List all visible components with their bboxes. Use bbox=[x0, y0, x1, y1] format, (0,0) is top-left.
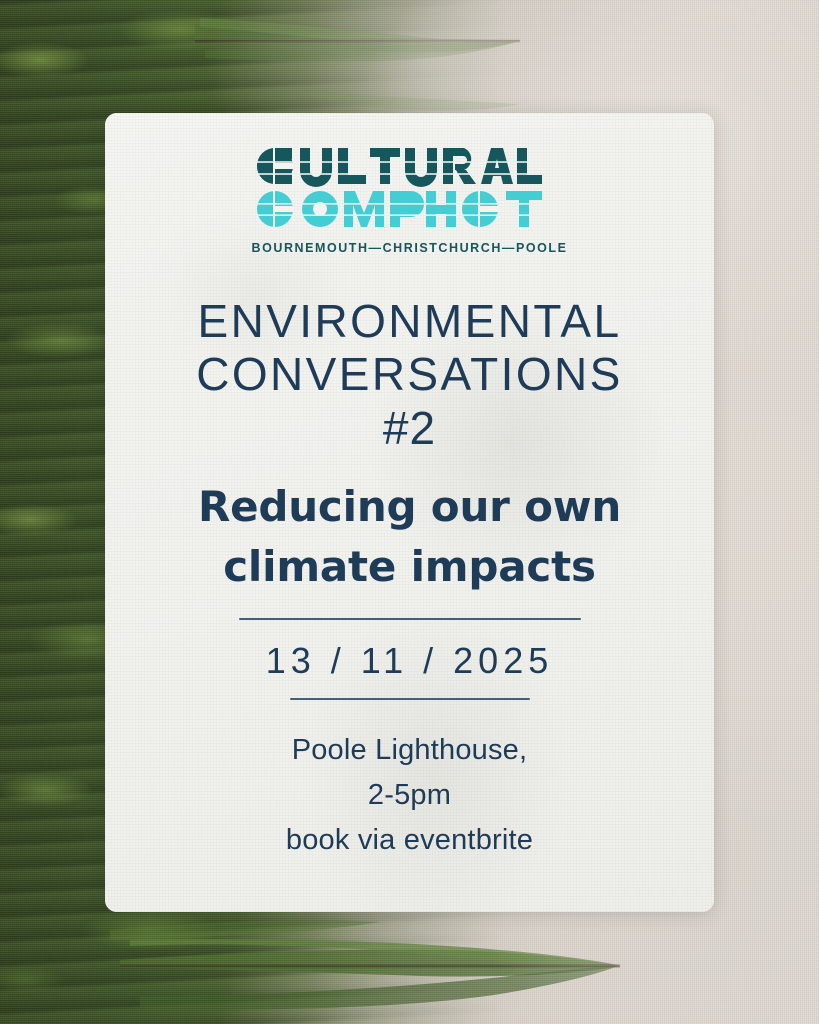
event-subheadline: Reducing our own climate impacts bbox=[198, 477, 621, 596]
event-poster: BOURNEMOUTH—CHRISTCHURCH—POOLE ENVIRONME… bbox=[0, 0, 819, 1024]
content-card: BOURNEMOUTH—CHRISTCHURCH—POOLE ENVIRONME… bbox=[105, 113, 714, 912]
headline-issue-number: #2 bbox=[196, 402, 623, 455]
headline-line-1: ENVIRONMENTAL bbox=[196, 295, 623, 348]
divider-rule-bottom bbox=[290, 698, 530, 700]
booking-instruction: book via eventbrite bbox=[286, 818, 533, 863]
logo-word-cultural bbox=[257, 148, 542, 187]
logo-subtitle: BOURNEMOUTH—CHRISTCHURCH—POOLE bbox=[252, 241, 568, 255]
event-date-block: 13 / 11 / 2025 bbox=[239, 618, 581, 700]
logo-word-compact bbox=[257, 191, 542, 227]
event-date: 13 / 11 / 2025 bbox=[266, 620, 554, 698]
headline-line-2: CONVERSATIONS bbox=[196, 348, 623, 401]
event-details: Poole Lighthouse, 2-5pm book via eventbr… bbox=[286, 728, 533, 863]
logo-mark bbox=[252, 143, 542, 235]
cultural-compact-logo: BOURNEMOUTH—CHRISTCHURCH—POOLE bbox=[252, 143, 568, 255]
venue-name: Poole Lighthouse, bbox=[286, 728, 533, 773]
event-time: 2-5pm bbox=[286, 773, 533, 818]
subheadline-line-2: climate impacts bbox=[198, 537, 621, 597]
subheadline-line-1: Reducing our own bbox=[198, 477, 621, 537]
event-headline: ENVIRONMENTAL CONVERSATIONS #2 bbox=[196, 295, 623, 455]
